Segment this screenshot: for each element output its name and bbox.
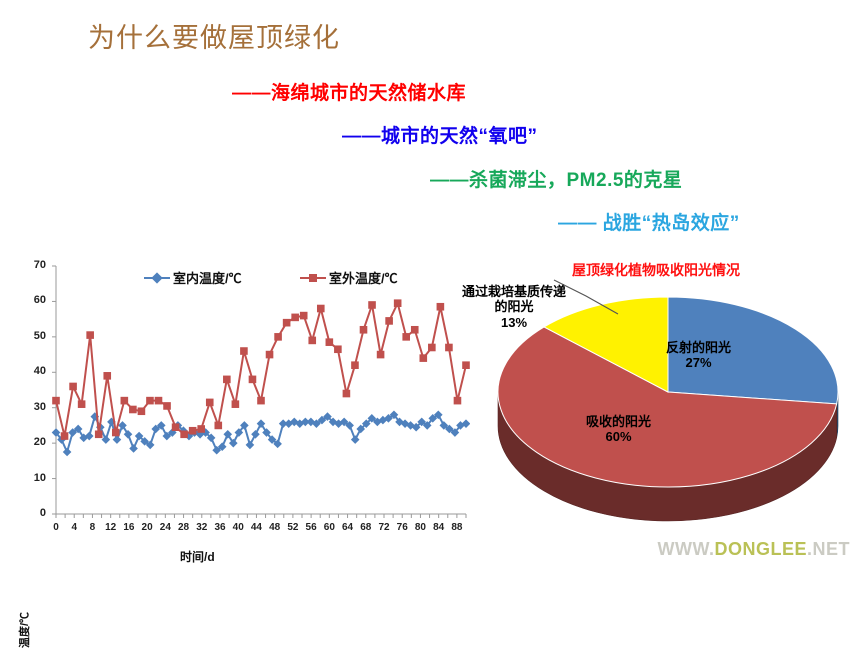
sunlight-pie-chart: 屋顶绿化植物吸收阳光情况 通过栽培基质传递的阳光 13% 反射的阳光 27% 吸… — [468, 252, 864, 568]
page-title: 为什么要做屋顶绿化 — [88, 16, 340, 55]
y-tick-label: 0 — [20, 507, 46, 519]
pie-label-reflected: 反射的阳光 27% — [666, 340, 731, 371]
bullet-line-1: ——海绵城市的天然储水库 — [232, 78, 466, 105]
x-tick-label: 40 — [230, 522, 246, 533]
x-tick-label: 4 — [66, 522, 82, 533]
legend-swatch-outdoor — [300, 272, 326, 284]
y-tick-label: 10 — [20, 472, 46, 484]
x-axis-title: 时间/d — [180, 548, 215, 565]
pie-label-absorbed-text: 吸收的阳光 — [586, 414, 651, 429]
x-tick-label: 68 — [358, 522, 374, 533]
watermark-suffix: .NET — [807, 539, 850, 559]
watermark-brand: DONGLEE — [714, 539, 807, 559]
presentation-slide: 为什么要做屋顶绿化 ——海绵城市的天然储水库 ——城市的天然“氧吧” ——杀菌滞… — [0, 0, 864, 568]
x-tick-label: 84 — [431, 522, 447, 533]
y-tick-label: 70 — [20, 259, 46, 271]
x-tick-label: 0 — [48, 522, 64, 533]
pie-callout-transmitted: 通过栽培基质传递的阳光 13% — [462, 284, 566, 330]
x-tick-label: 76 — [394, 522, 410, 533]
y-tick-label: 40 — [20, 365, 46, 377]
line-chart-plot — [0, 252, 470, 568]
x-tick-label: 16 — [121, 522, 137, 533]
watermark-prefix: WWW. — [657, 539, 714, 559]
y-tick-label: 20 — [20, 436, 46, 448]
y-tick-label: 60 — [20, 294, 46, 306]
x-tick-label: 52 — [285, 522, 301, 533]
x-tick-label: 88 — [449, 522, 465, 533]
pie-label-absorbed-percent: 60% — [586, 429, 651, 444]
x-tick-label: 60 — [321, 522, 337, 533]
legend-label-outdoor: 室外温度/℃ — [329, 268, 398, 287]
pie-callout-percent: 13% — [462, 315, 566, 330]
temperature-line-chart: 温度/℃ 时间/d 010203040506070 04812162024283… — [0, 252, 470, 568]
pie-chart-title: 屋顶绿化植物吸收阳光情况 — [572, 260, 740, 280]
pie-label-absorbed: 吸收的阳光 60% — [586, 414, 651, 445]
pie-label-reflected-text: 反射的阳光 — [666, 340, 731, 355]
legend-swatch-indoor — [144, 272, 170, 284]
x-tick-label: 12 — [103, 522, 119, 533]
y-tick-label: 30 — [20, 401, 46, 413]
legend-label-indoor: 室内温度/℃ — [173, 268, 242, 287]
bullet-line-4: —— 战胜“热岛效应” — [558, 208, 740, 235]
x-tick-label: 28 — [176, 522, 192, 533]
pie-label-reflected-percent: 27% — [666, 355, 731, 370]
y-tick-label: 50 — [20, 330, 46, 342]
x-tick-label: 20 — [139, 522, 155, 533]
legend-item-outdoor: 室外温度/℃ — [300, 268, 398, 287]
x-tick-label: 72 — [376, 522, 392, 533]
site-watermark: WWW.DONGLEE.NET — [657, 539, 850, 560]
x-tick-label: 48 — [267, 522, 283, 533]
x-tick-label: 44 — [248, 522, 264, 533]
legend-item-indoor: 室内温度/℃ — [144, 268, 242, 287]
pie-callout-label: 通过栽培基质传递的阳光 — [462, 284, 566, 315]
bullet-line-2: ——城市的天然“氧吧” — [342, 121, 538, 148]
x-tick-label: 80 — [412, 522, 428, 533]
x-tick-label: 32 — [194, 522, 210, 533]
x-tick-label: 8 — [84, 522, 100, 533]
x-tick-label: 64 — [340, 522, 356, 533]
x-tick-label: 24 — [157, 522, 173, 533]
bullet-line-3: ——杀菌滞尘，PM2.5的克星 — [430, 165, 682, 192]
x-tick-label: 56 — [303, 522, 319, 533]
x-tick-label: 36 — [212, 522, 228, 533]
y-axis-title: 温度/℃ — [16, 590, 32, 670]
